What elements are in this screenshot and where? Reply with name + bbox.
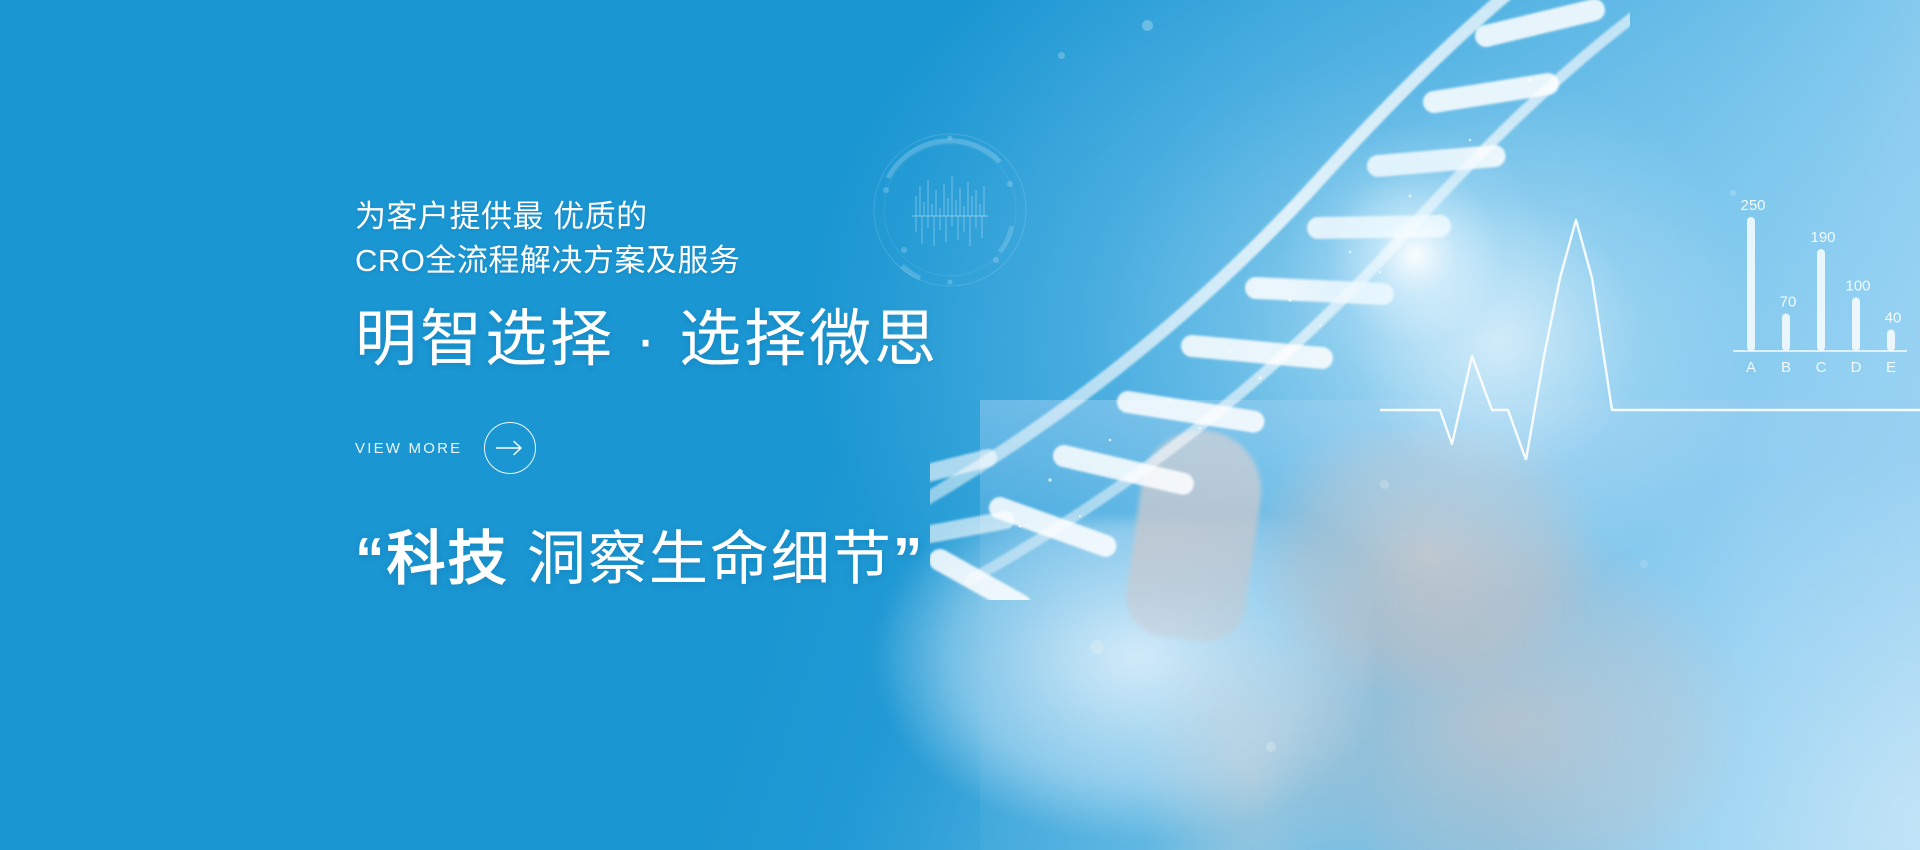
view-more-button[interactable]: VIEW MORE [355,422,555,474]
quote-close-mark: ” [893,526,925,592]
hero-quote: “科技 洞察生命细节” [355,526,1175,592]
hero-headline: 明智选择 · 选择微思 [355,305,1175,374]
bar-A [1747,217,1755,351]
hero-banner: 250A70B190C100D40E 为客户提供最 优质的 CRO全流程解决方案… [0,0,1920,850]
quote-light-text: 洞察生命细节 [509,526,893,592]
bar-B [1782,313,1790,351]
quote-strong-text: 科技 [387,526,509,592]
bar-value-E: 40 [1885,310,1902,327]
bar-category-B: B [1781,359,1791,376]
hero-subtitle: 为客户提供最 优质的 CRO全流程解决方案及服务 [355,195,1175,283]
bar-category-C: C [1816,359,1827,376]
hero-subtitle-line-1: 为客户提供最 优质的 [355,195,1175,239]
quote-open-mark: “ [355,526,387,592]
bar-value-B: 70 [1780,293,1797,310]
bokeh-dot [1142,20,1153,31]
bar-chart-graphic: 250A70B190C100D40E [1725,175,1915,390]
bar-value-D: 100 [1845,277,1870,294]
bokeh-dot [1380,480,1389,489]
hero-content: 为客户提供最 优质的 CRO全流程解决方案及服务 明智选择 · 选择微思 VIE… [355,195,1175,593]
bar-category-D: D [1851,359,1862,376]
bar-category-E: E [1886,359,1896,376]
bokeh-dot [1730,190,1736,196]
bar-C [1817,249,1825,351]
bokeh-dot [1090,640,1104,654]
view-more-label: VIEW MORE [355,440,462,457]
bar-D [1852,297,1860,351]
hero-subtitle-line-2: CRO全流程解决方案及服务 [355,239,1175,283]
bar-E [1887,330,1895,351]
bar-value-C: 190 [1810,229,1835,246]
bokeh-dot [1640,560,1648,568]
arrow-right-icon[interactable] [484,422,536,474]
bokeh-dot [1058,52,1065,59]
bar-category-A: A [1746,359,1756,376]
bar-value-A: 250 [1740,197,1765,214]
bokeh-dot [1266,742,1276,752]
